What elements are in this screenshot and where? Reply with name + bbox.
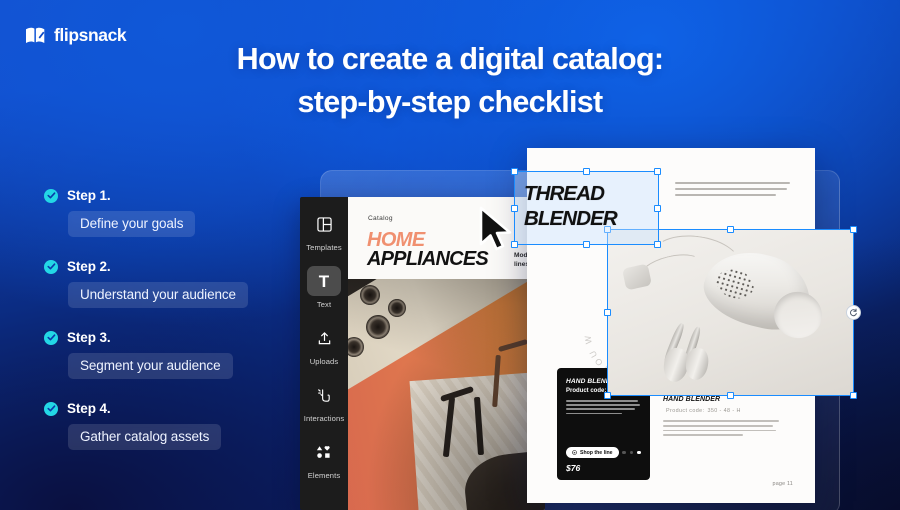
check-circle-icon bbox=[44, 189, 58, 203]
resize-handle-n[interactable] bbox=[727, 226, 734, 233]
sidebar-label-uploads: Uploads bbox=[310, 357, 339, 366]
product-price: $76 bbox=[566, 463, 580, 473]
step-header: Step 1. bbox=[44, 188, 284, 203]
text-resize-handle-se[interactable] bbox=[654, 241, 661, 248]
product-info-code: Product code:350 - 48 - H bbox=[663, 407, 781, 414]
canvas-kicker: Catalog bbox=[368, 215, 393, 222]
selected-product-image[interactable] bbox=[608, 230, 853, 395]
dot[interactable] bbox=[622, 451, 626, 455]
shop-the-line-label: Shop the line bbox=[580, 450, 613, 456]
product-card-actions: Shop the line bbox=[566, 447, 641, 458]
product-info-description bbox=[663, 420, 781, 436]
shop-the-line-button[interactable]: Shop the line bbox=[566, 447, 619, 458]
checklist-item: Step 1. Define your goals bbox=[44, 188, 284, 237]
resize-handle-sw[interactable] bbox=[604, 392, 611, 399]
text-resize-handle-s[interactable] bbox=[583, 241, 590, 248]
kitchen-photo bbox=[348, 279, 545, 510]
text-resize-handle-n[interactable] bbox=[583, 168, 590, 175]
text-t-icon: T bbox=[307, 266, 341, 296]
page-paragraph bbox=[675, 182, 790, 199]
step-header: Step 3. bbox=[44, 330, 284, 345]
layout-grid-icon bbox=[307, 209, 341, 239]
sidebar-label-text: Text bbox=[317, 300, 331, 309]
page-number: page 11 bbox=[773, 481, 794, 487]
title-line-2: step-by-step checklist bbox=[0, 81, 900, 124]
resize-handle-ne[interactable] bbox=[850, 226, 857, 233]
selected-text-content: THREAD BLENDER bbox=[524, 182, 617, 231]
shapes-icon bbox=[307, 437, 341, 467]
resize-handle-se[interactable] bbox=[850, 392, 857, 399]
canvas-headline-bottom[interactable]: APPLIANCES bbox=[367, 248, 488, 271]
dot-active[interactable] bbox=[637, 451, 641, 455]
cart-icon bbox=[572, 450, 577, 455]
step-chip[interactable]: Understand your audience bbox=[68, 282, 248, 308]
sidebar-item-templates[interactable]: Templates bbox=[300, 209, 348, 252]
title-line-1: How to create a digital catalog: bbox=[237, 42, 664, 76]
sidebar-label-elements: Elements bbox=[308, 471, 340, 480]
sidebar-item-uploads[interactable]: Uploads bbox=[300, 323, 348, 366]
step-label: Step 4. bbox=[67, 401, 111, 416]
check-circle-icon bbox=[44, 402, 58, 416]
steps-checklist: Step 1. Define your goals Step 2. Unders… bbox=[44, 188, 284, 472]
text-resize-handle-e[interactable] bbox=[654, 205, 661, 212]
step-chip[interactable]: Define your goals bbox=[68, 211, 195, 237]
text-resize-handle-nw[interactable] bbox=[511, 168, 518, 175]
step-chip[interactable]: Gather catalog assets bbox=[68, 424, 221, 450]
resize-handle-s[interactable] bbox=[727, 392, 734, 399]
sidebar-item-elements[interactable]: Elements bbox=[300, 437, 348, 480]
product-info-block: HAND BLENDER Product code:350 - 48 - H bbox=[663, 396, 781, 439]
step-header: Step 2. bbox=[44, 259, 284, 274]
sidebar-item-interactions[interactable]: Interactions bbox=[300, 380, 348, 423]
checklist-item: Step 2. Understand your audience bbox=[44, 259, 284, 308]
sidebar-label-templates: Templates bbox=[306, 243, 342, 252]
carousel-dots[interactable] bbox=[622, 451, 641, 455]
product-info-code-value: 350 - 48 - H bbox=[707, 408, 740, 414]
selected-text-line-1: THREAD bbox=[524, 182, 617, 207]
step-label: Step 1. bbox=[67, 188, 111, 203]
click-hand-icon bbox=[307, 380, 341, 410]
selected-text-line-2: BLENDER bbox=[524, 207, 617, 232]
upload-arrow-icon bbox=[307, 323, 341, 353]
check-circle-icon bbox=[44, 260, 58, 274]
product-card-description bbox=[566, 400, 641, 414]
check-circle-icon bbox=[44, 331, 58, 345]
product-info-title: HAND BLENDER bbox=[663, 396, 781, 403]
dot[interactable] bbox=[630, 451, 634, 455]
step-label: Step 3. bbox=[67, 330, 111, 345]
step-header: Step 4. bbox=[44, 401, 284, 416]
slide-canvas: flipsnack How to create a digital catalo… bbox=[0, 0, 900, 510]
mouse-pointer-icon bbox=[478, 206, 520, 257]
selected-text-element[interactable]: THREAD BLENDER bbox=[515, 172, 658, 244]
rotate-icon[interactable] bbox=[846, 305, 861, 320]
editor-toolbar: Templates T Text Uploads Interactions bbox=[300, 197, 348, 510]
sidebar-item-text[interactable]: T Text bbox=[300, 266, 348, 309]
resize-handle-w[interactable] bbox=[604, 309, 611, 316]
text-resize-handle-ne[interactable] bbox=[654, 168, 661, 175]
step-chip[interactable]: Segment your audience bbox=[68, 353, 233, 379]
step-label: Step 2. bbox=[67, 259, 111, 274]
product-info-code-label: Product code: bbox=[666, 408, 704, 414]
checklist-item: Step 3. Segment your audience bbox=[44, 330, 284, 379]
page-title: How to create a digital catalog: step-by… bbox=[0, 38, 900, 125]
sidebar-label-interactions: Interactions bbox=[304, 414, 344, 423]
checklist-item: Step 4. Gather catalog assets bbox=[44, 401, 284, 450]
